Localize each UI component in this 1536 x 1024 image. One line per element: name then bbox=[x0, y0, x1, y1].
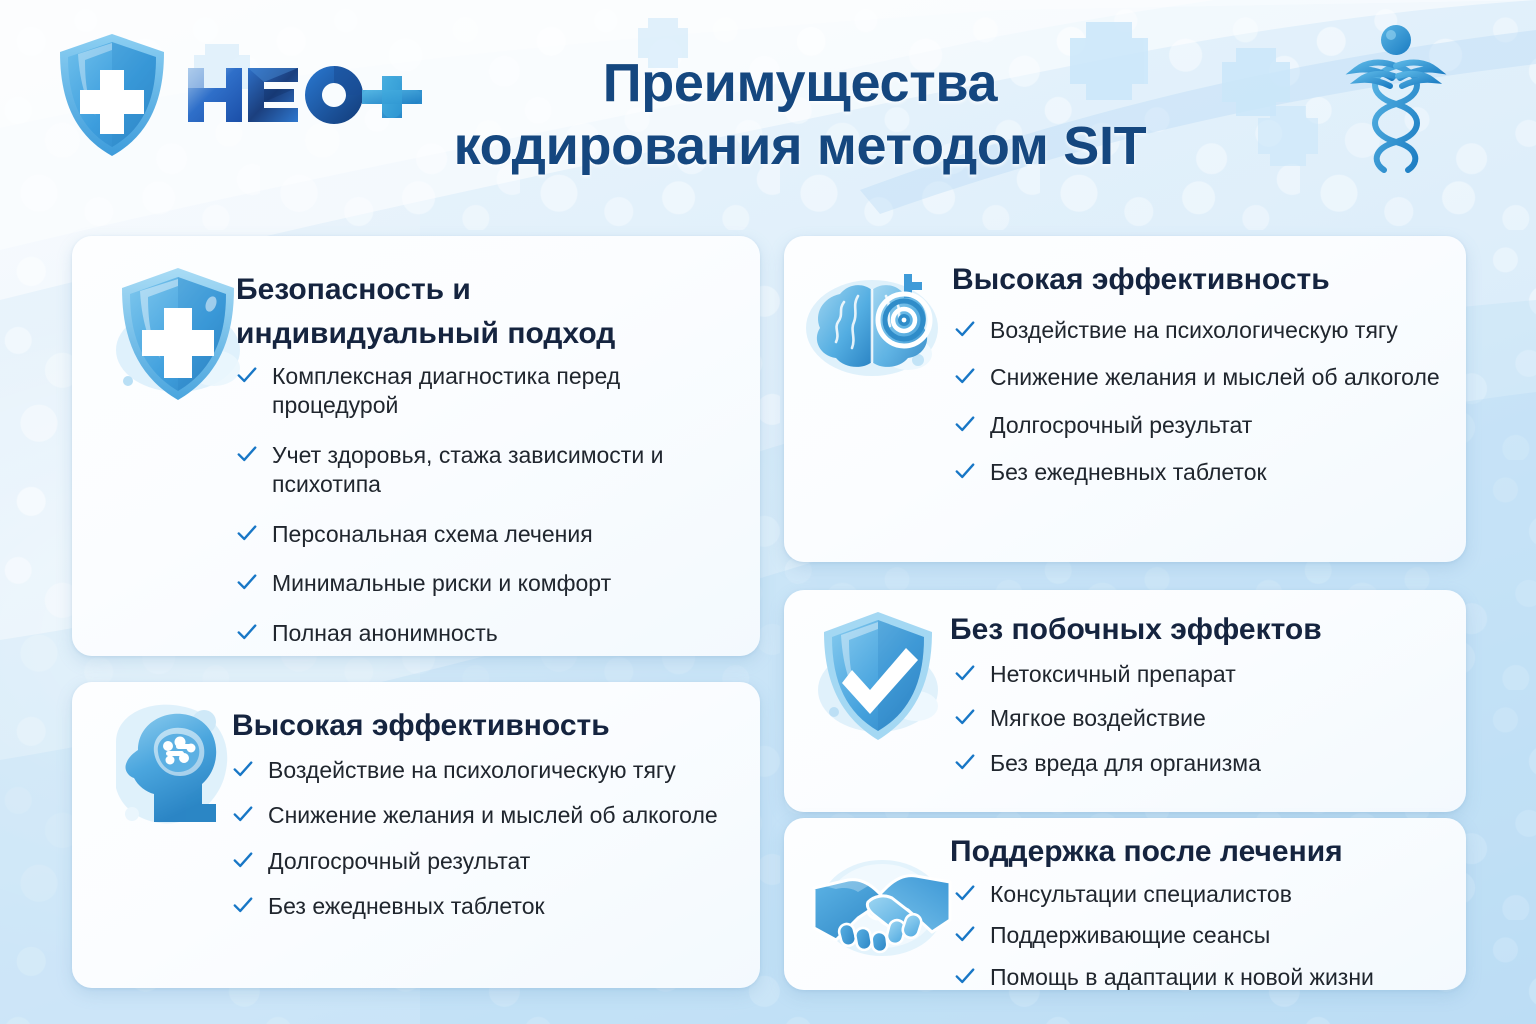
list-item-label: Персональная схема лечения bbox=[272, 521, 593, 547]
check-icon bbox=[954, 706, 976, 728]
check-icon bbox=[236, 621, 258, 643]
card-title-line-1: Безопасность и bbox=[236, 273, 471, 306]
list-item-label: Консультации специалистов bbox=[990, 881, 1292, 907]
benefit-list: Комплексная диагностика перед процедурой… bbox=[236, 362, 736, 668]
check-icon bbox=[232, 803, 254, 825]
card-title-line-2: индивидуальный подход bbox=[236, 317, 615, 350]
list-item: Долгосрочный результат bbox=[232, 847, 742, 876]
check-icon bbox=[954, 413, 976, 435]
list-item-label: Комплексная диагностика перед процедурой bbox=[272, 363, 620, 418]
list-item: Без ежедневных таблеток bbox=[954, 458, 1450, 487]
card-high-effectiveness-left[interactable]: Высокая эффективность Воздействие на пси… bbox=[72, 682, 760, 988]
list-item: Долгосрочный результат bbox=[954, 411, 1450, 440]
list-item: Воздействие на психологическую тягу bbox=[954, 316, 1450, 345]
shield-check-icon bbox=[812, 604, 952, 754]
page-title-line-2: кодирования методом SIT bbox=[300, 115, 1300, 178]
page-title-line-1: Преимущества bbox=[603, 53, 998, 113]
list-item: Учет здоровья, стажа зависимости и психо… bbox=[236, 441, 736, 500]
handshake-icon bbox=[812, 836, 952, 976]
list-item: Нетоксичный препарат bbox=[954, 660, 1434, 689]
list-item: Воздействие на психологическую тягу bbox=[232, 756, 742, 785]
list-item-label: Снижение желания и мыслей об алкоголе bbox=[268, 802, 718, 828]
page-title: Преимущества кодирования методом SIT bbox=[300, 52, 1300, 178]
check-icon bbox=[954, 365, 976, 387]
check-icon bbox=[236, 364, 258, 386]
list-item-label: Без ежедневных таблеток bbox=[268, 893, 545, 919]
benefit-list: Нетоксичный препарат Мягкое воздействие … bbox=[954, 660, 1434, 793]
card-high-effectiveness-right[interactable]: Высокая эффективность Воздействие на пси… bbox=[784, 236, 1466, 562]
list-item: Персональная схема лечения bbox=[236, 520, 736, 549]
infographic-poster: Преимущества кодирования методом SIT bbox=[0, 0, 1536, 1024]
card-support-after-treatment[interactable]: Поддержка после лечения Консультации спе… bbox=[784, 818, 1466, 990]
head-brain-icon bbox=[98, 696, 248, 846]
list-item-label: Мягкое воздействие bbox=[990, 705, 1206, 731]
check-icon bbox=[236, 571, 258, 593]
card-title: Безопасность и индивидуальный подход bbox=[236, 268, 736, 355]
check-icon bbox=[954, 923, 976, 945]
list-item-label: Воздействие на психологическую тягу bbox=[268, 757, 676, 783]
check-icon bbox=[232, 758, 254, 780]
card-no-side-effects[interactable]: Без побочных эффектов Нетоксичный препар… bbox=[784, 590, 1466, 812]
list-item: Снижение желания и мыслей об алкоголе bbox=[232, 801, 742, 830]
list-item: Консультации специалистов bbox=[954, 880, 1444, 909]
card-title: Высокая эффективность bbox=[232, 708, 732, 744]
brain-target-icon bbox=[800, 256, 950, 396]
card-title: Высокая эффективность bbox=[952, 262, 1452, 298]
list-item-label: Воздействие на психологическую тягу bbox=[990, 317, 1398, 343]
card-safety-individual-approach[interactable]: Безопасность и индивидуальный подход Ком… bbox=[72, 236, 760, 656]
check-icon bbox=[954, 882, 976, 904]
list-item: Полная анонимность bbox=[236, 619, 736, 648]
list-item: Снижение желания и мыслей об алкоголе bbox=[954, 363, 1450, 392]
list-item-label: Долгосрочный результат bbox=[990, 412, 1252, 438]
benefit-list: Воздействие на психологическую тягу Сниж… bbox=[954, 316, 1450, 506]
list-item: Без вреда для организма bbox=[954, 749, 1434, 778]
list-item-label: Без вреда для организма bbox=[990, 750, 1261, 776]
shield-cross-icon bbox=[106, 258, 256, 418]
list-item-label: Поддерживающие сеансы bbox=[990, 922, 1270, 948]
check-icon bbox=[954, 460, 976, 482]
list-item-label: Помощь в адаптации к новой жизни bbox=[990, 964, 1374, 990]
list-item-label: Нетоксичный препарат bbox=[990, 661, 1236, 687]
list-item-label: Без ежедневных таблеток bbox=[990, 459, 1267, 485]
check-icon bbox=[954, 318, 976, 340]
check-icon bbox=[236, 522, 258, 544]
caduceus-icon bbox=[1340, 18, 1452, 184]
card-title: Без побочных эффектов bbox=[950, 612, 1430, 648]
list-item: Комплексная диагностика перед процедурой bbox=[236, 362, 736, 421]
list-item-label: Полная анонимность bbox=[272, 620, 498, 646]
list-item-label: Снижение желания и мыслей об алкоголе bbox=[990, 364, 1440, 390]
poster-header: Преимущества кодирования методом SIT bbox=[0, 0, 1536, 210]
list-item-label: Долгосрочный результат bbox=[268, 848, 530, 874]
card-title: Поддержка после лечения bbox=[950, 834, 1440, 870]
list-item: Минимальные риски и комфорт bbox=[236, 569, 736, 598]
check-icon bbox=[236, 443, 258, 465]
list-item: Помощь в адаптации к новой жизни bbox=[954, 963, 1444, 992]
list-item-label: Минимальные риски и комфорт bbox=[272, 570, 611, 596]
list-item: Поддерживающие сеансы bbox=[954, 921, 1444, 950]
check-icon bbox=[232, 894, 254, 916]
benefit-list: Консультации специалистов Поддерживающие… bbox=[954, 880, 1444, 1004]
check-icon bbox=[232, 849, 254, 871]
list-item: Без ежедневных таблеток bbox=[232, 892, 742, 921]
check-icon bbox=[954, 662, 976, 684]
benefit-list: Воздействие на психологическую тягу Сниж… bbox=[232, 756, 742, 938]
list-item-label: Учет здоровья, стажа зависимости и психо… bbox=[272, 442, 663, 497]
list-item: Мягкое воздействие bbox=[954, 704, 1434, 733]
check-icon bbox=[954, 751, 976, 773]
shield-cross-icon bbox=[52, 30, 172, 160]
check-icon bbox=[954, 965, 976, 987]
